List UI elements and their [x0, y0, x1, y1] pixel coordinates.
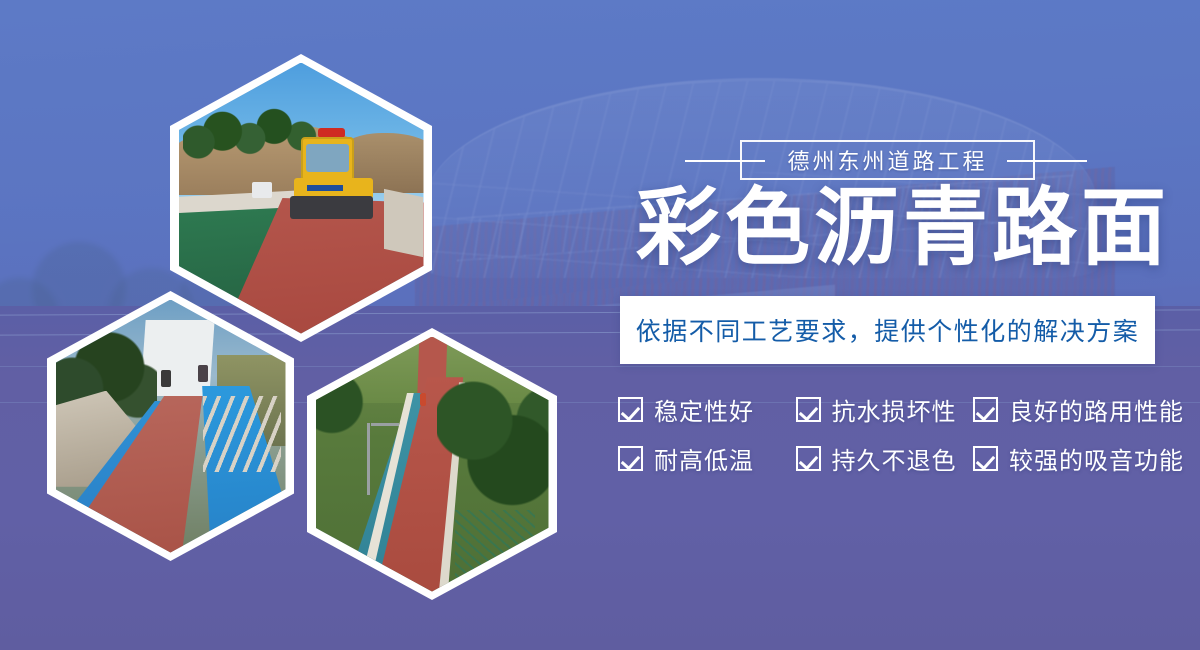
subtitle-bar: 依据不同工艺要求，提供个性化的解决方案 [620, 296, 1155, 364]
checkbox-checked-icon [618, 397, 643, 422]
photo-car [252, 182, 272, 198]
hex-photo-image [179, 63, 424, 334]
roller-drum [290, 196, 372, 219]
checkbox-checked-icon [796, 397, 821, 422]
photo-lamp-post [367, 423, 370, 494]
feature-item: 稳定性好 [618, 392, 796, 427]
checkbox-checked-icon [973, 397, 998, 422]
feature-list: 稳定性好 抗水损坏性 良好的路用性能 耐高低温 持久不退色 较强的吸音功能 [618, 392, 1184, 476]
subtitle-text: 依据不同工艺要求，提供个性化的解决方案 [636, 312, 1140, 348]
feature-label: 稳定性好 [654, 392, 754, 427]
photo-pedestrian [420, 393, 426, 406]
banner-root: 德州东州道路工程 彩色沥青路面 依据不同工艺要求，提供个性化的解决方案 稳定性好… [0, 0, 1200, 650]
roller-windshield [306, 144, 349, 173]
feature-label: 较强的吸音功能 [1009, 441, 1184, 476]
photo-kerb [384, 188, 423, 256]
feature-label: 耐高低温 [654, 441, 754, 476]
photo-rider [198, 365, 208, 382]
feature-item: 耐高低温 [618, 441, 796, 476]
photo-road-roller [294, 133, 380, 222]
feature-item: 持久不退色 [796, 441, 974, 476]
checkbox-checked-icon [618, 446, 643, 471]
feature-label: 持久不退色 [832, 441, 957, 476]
feature-item: 良好的路用性能 [973, 392, 1184, 427]
feature-item: 抗水损坏性 [796, 392, 974, 427]
photo-rider [161, 370, 171, 387]
checkbox-checked-icon [796, 446, 821, 471]
photo-lamp-arm [371, 423, 399, 426]
feature-item: 较强的吸音功能 [973, 441, 1184, 476]
roller-stripe [307, 185, 343, 191]
feature-label: 抗水损坏性 [832, 392, 957, 427]
hex-photo-image [316, 337, 549, 592]
brand-label-group: 德州东州道路工程 [685, 140, 1087, 180]
brand-label: 德州东州道路工程 [740, 140, 1035, 180]
hex-photo-image [56, 300, 286, 553]
photo-guardrail [203, 396, 281, 472]
checkbox-checked-icon [973, 446, 998, 471]
page-title: 彩色沥青路面 [636, 186, 1156, 271]
feature-label: 良好的路用性能 [1009, 392, 1184, 427]
